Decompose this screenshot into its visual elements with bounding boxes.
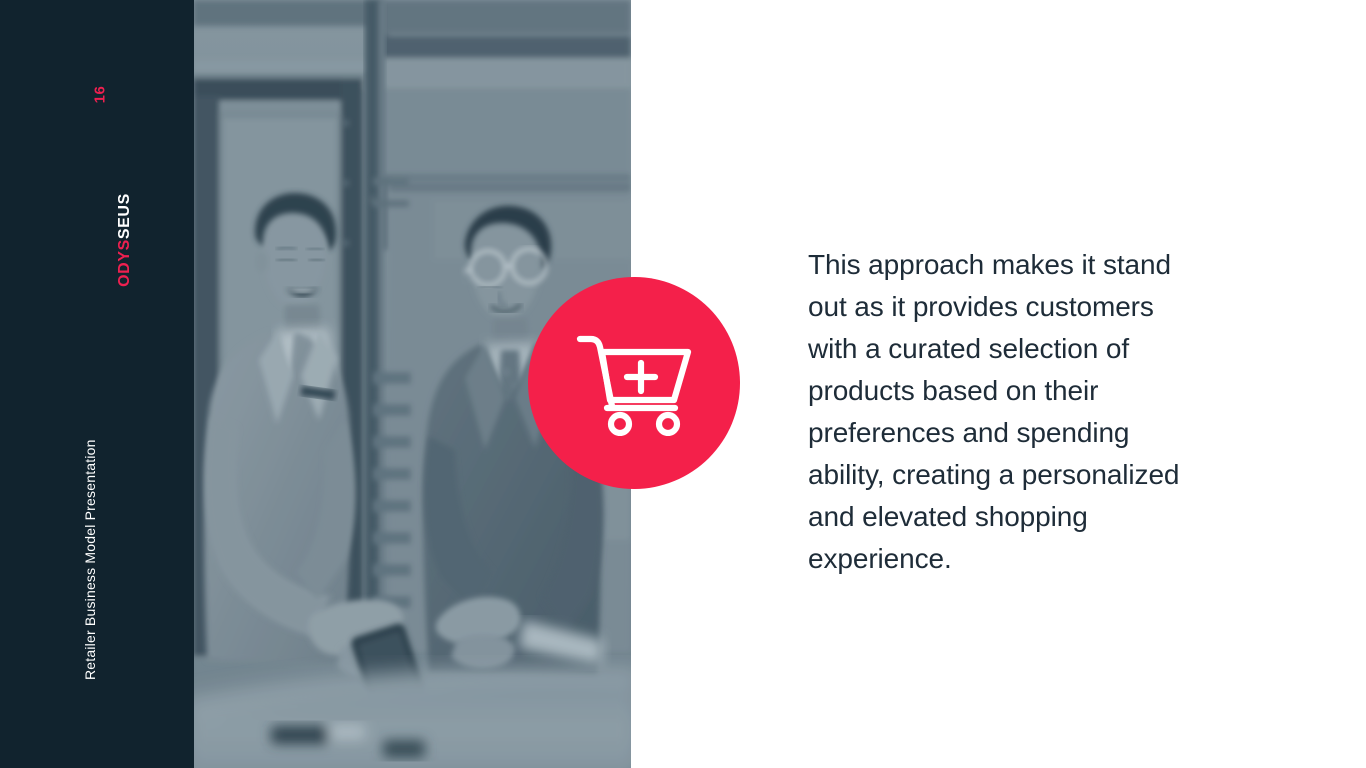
shopping-cart-plus-icon — [574, 330, 694, 436]
slide-sidebar: 16 ODYSSEUS Retailer Business Model Pres… — [0, 0, 194, 768]
sidebar-caption: Retailer Business Model Presentation — [78, 360, 102, 680]
brand-logo-accent: ODYS — [116, 239, 133, 287]
presentation-slide: 16 ODYSSEUS Retailer Business Model Pres… — [0, 0, 1366, 768]
brand-logo-rest: SEUS — [116, 193, 133, 239]
shopping-cart-plus-icon-badge — [528, 277, 740, 489]
page-number: 16 — [78, 72, 122, 116]
page-number-label: 16 — [92, 85, 109, 103]
sidebar-caption-label: Retailer Business Model Presentation — [82, 439, 98, 680]
slide-body-text: This approach makes it stand out as it p… — [808, 244, 1208, 580]
brand-logo: ODYSSEUS — [0, 190, 194, 290]
